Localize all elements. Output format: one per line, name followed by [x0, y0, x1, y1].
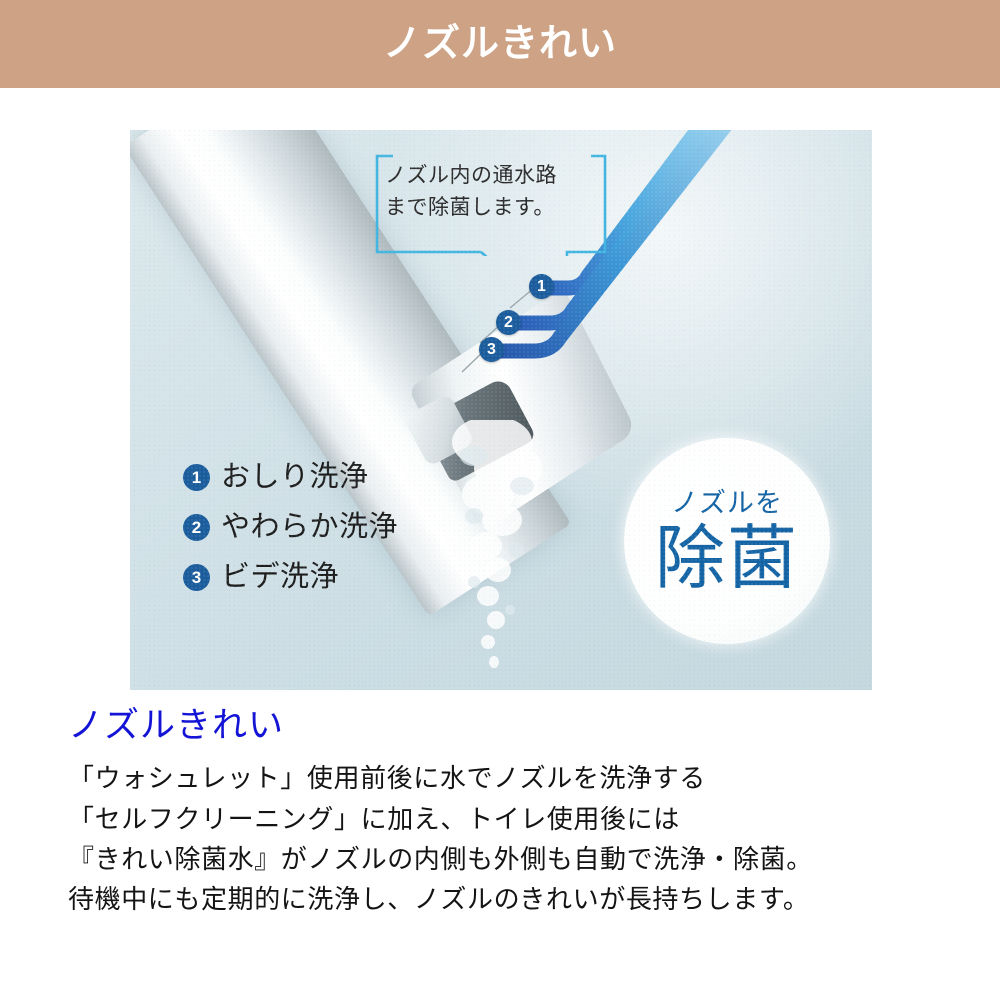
legend-item: 2 やわらか洗浄 [183, 502, 398, 552]
legend-label-3: ビデ洗浄 [221, 563, 339, 592]
nozzle-callout: ノズル内の通水路 まで除菌します。 [363, 152, 609, 256]
product-illustration: ノズル内の通水路 まで除菌します。 1 2 3 1 おしり洗浄 2 やわらか洗浄… [130, 130, 872, 690]
callout-line-1: ノズル内の通水路 [385, 160, 600, 192]
page-header-title: ノズルきれい [383, 25, 617, 63]
description-line-3: 『きれい除菌水』がノズルの内側も外側も自動で洗浄・除菌。 [68, 839, 968, 879]
description-line-1: 「ウォシュレット」使用前後に水でノズルを洗浄する [68, 758, 968, 798]
legend-number-3: 3 [183, 564, 210, 591]
description-section: ノズルきれい 「ウォシュレット」使用前後に水でノズルを洗浄する 「セルフクリーニ… [68, 706, 968, 919]
nozzle-marker-2: 2 [496, 310, 521, 335]
description-line-4: 待機中にも定期的に洗浄し、ノズルのきれいが長持ちします。 [68, 879, 968, 919]
wash-mode-legend: 1 おしり洗浄 2 やわらか洗浄 3 ビデ洗浄 [183, 452, 398, 602]
sanitize-badge-main-text: 除菌 [655, 523, 799, 593]
sanitize-badge: ノズルを 除菌 [624, 438, 830, 644]
sanitize-badge-small-text: ノズルを [671, 490, 783, 517]
legend-item: 1 おしり洗浄 [183, 452, 398, 502]
page-header: ノズルきれい [0, 0, 1000, 88]
description-line-2: 「セルフクリーニング」に加え、トイレ使用後には [68, 799, 968, 839]
legend-item: 3 ビデ洗浄 [183, 552, 398, 602]
nozzle-marker-3: 3 [479, 337, 504, 362]
legend-label-2: やわらか洗浄 [221, 513, 398, 542]
nozzle-marker-1: 1 [529, 274, 554, 299]
legend-number-1: 1 [183, 464, 210, 491]
legend-label-1: おしり洗浄 [221, 463, 369, 492]
callout-line-2: まで除菌します。 [385, 192, 600, 224]
legend-number-2: 2 [183, 514, 210, 541]
callout-text: ノズル内の通水路 まで除菌します。 [385, 160, 600, 224]
section-title: ノズルきれい [68, 706, 968, 746]
